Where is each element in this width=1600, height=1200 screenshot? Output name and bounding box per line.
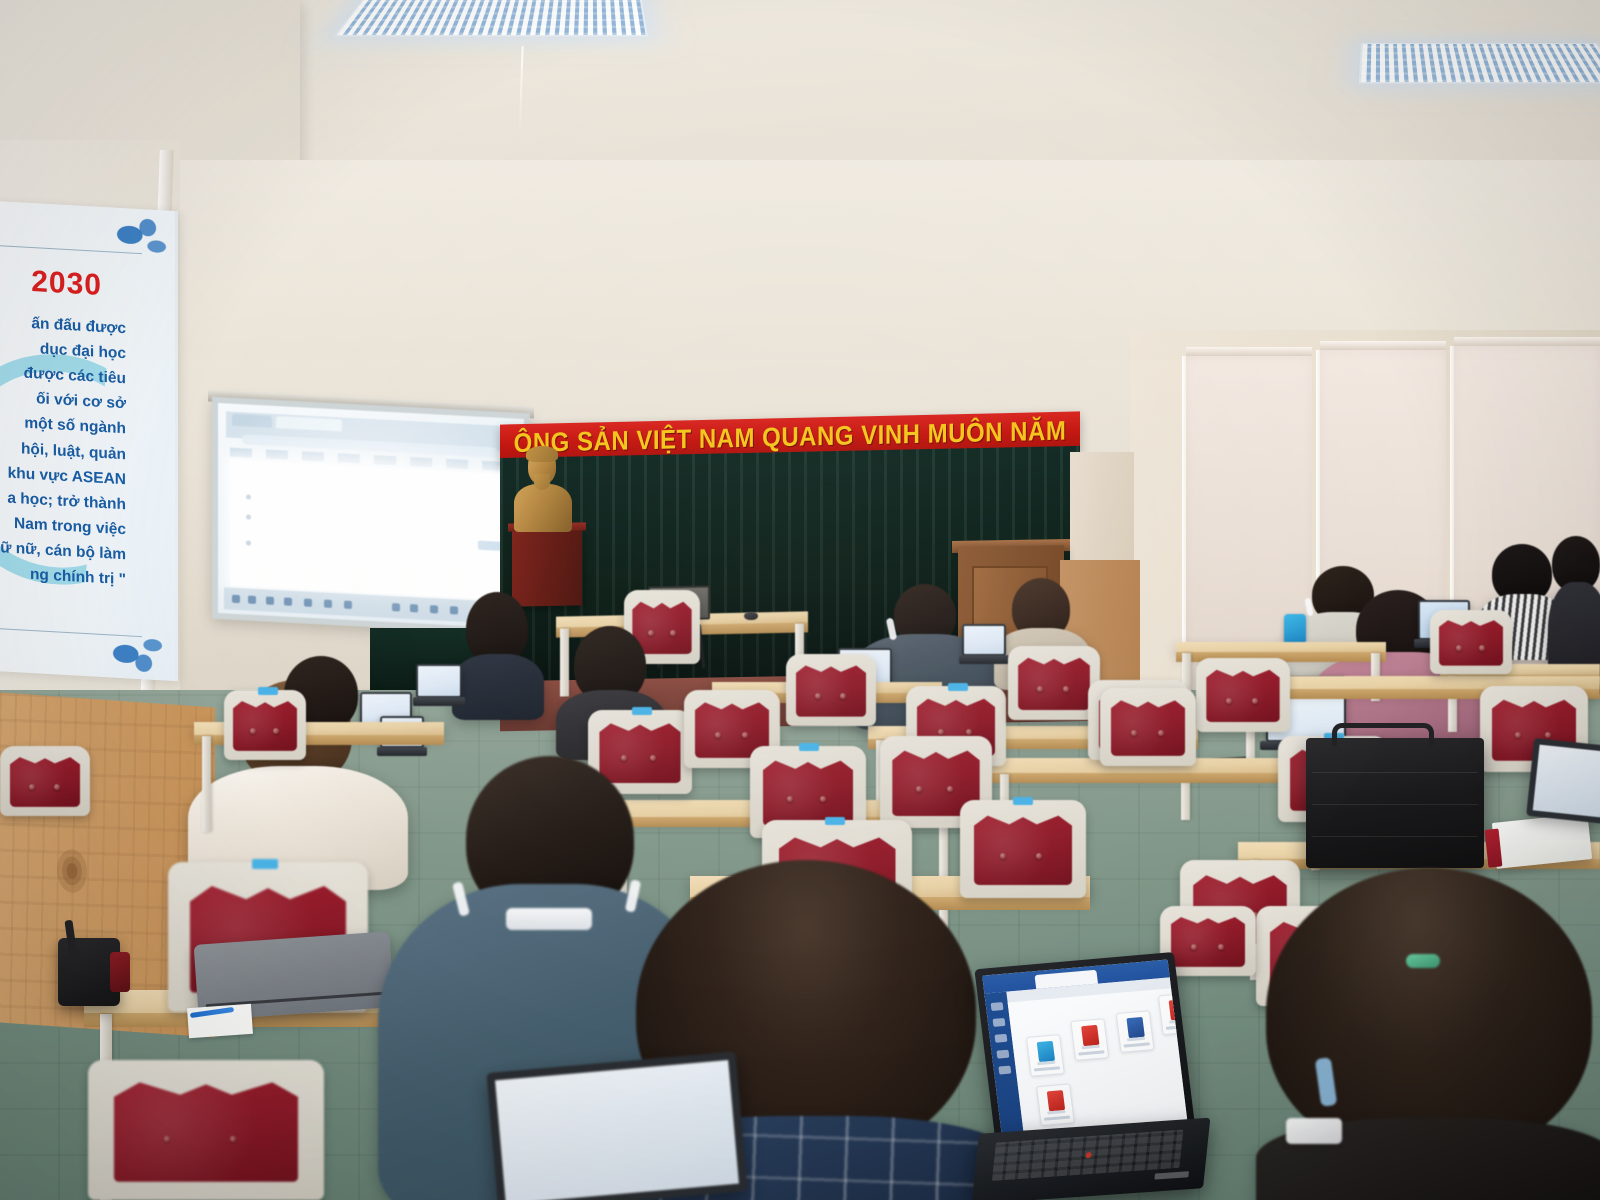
ho-chi-minh-bust bbox=[514, 448, 572, 532]
chair[interactable] bbox=[0, 746, 90, 816]
wall-poster-banner: 2030 ấn đấu được dục đại học được các ti… bbox=[0, 201, 178, 681]
smartphone[interactable] bbox=[1284, 614, 1306, 644]
app-content-area bbox=[1008, 988, 1188, 1134]
laptop[interactable] bbox=[962, 624, 1006, 656]
chair[interactable] bbox=[224, 690, 306, 760]
chair[interactable] bbox=[1008, 646, 1100, 720]
head bbox=[1266, 868, 1592, 1158]
poster-ornament-icon bbox=[109, 625, 165, 674]
hair-tie bbox=[1406, 954, 1440, 968]
laptop-screen[interactable] bbox=[982, 960, 1187, 1137]
document-icon bbox=[1047, 1090, 1065, 1111]
chair[interactable] bbox=[1430, 610, 1512, 674]
torso bbox=[452, 654, 544, 720]
chair[interactable] bbox=[88, 1060, 324, 1200]
chair[interactable] bbox=[1100, 688, 1196, 766]
laptop-brand-logo bbox=[1154, 1171, 1189, 1179]
document-card[interactable] bbox=[1026, 1034, 1065, 1077]
document-card[interactable] bbox=[1070, 1018, 1109, 1061]
ceiling-light-fixture bbox=[334, 0, 648, 36]
laptop[interactable] bbox=[486, 1051, 747, 1200]
ceiling-light-fixture bbox=[1359, 43, 1600, 83]
chair[interactable] bbox=[786, 654, 876, 726]
shirt-collar bbox=[506, 908, 592, 930]
document-icon bbox=[1081, 1025, 1099, 1046]
document-card[interactable] bbox=[1116, 1010, 1155, 1053]
attendee-woman-dark-hair-left bbox=[452, 592, 544, 710]
poster-text-block: ấn đấu được dục đại học được các tiêu ối… bbox=[0, 308, 156, 594]
document-icon bbox=[1037, 1041, 1055, 1062]
desk-table bbox=[1176, 642, 1386, 653]
laptop[interactable] bbox=[416, 664, 462, 698]
document-card[interactable] bbox=[1036, 1083, 1075, 1126]
poster-ornament-icon bbox=[113, 216, 169, 265]
handbag[interactable] bbox=[58, 938, 120, 1006]
blind-headrail bbox=[1454, 337, 1600, 346]
smartphone[interactable] bbox=[1286, 1118, 1342, 1144]
poster-year: 2030 bbox=[0, 262, 102, 303]
laptop-lid bbox=[974, 952, 1195, 1148]
blind-headrail bbox=[1186, 347, 1312, 356]
document-icon bbox=[1126, 1017, 1144, 1038]
projected-page-body bbox=[230, 460, 516, 601]
briefcase[interactable] bbox=[1306, 738, 1484, 868]
wood-grain-knot bbox=[52, 841, 92, 902]
document-icon bbox=[1169, 999, 1187, 1020]
foreground-laptop[interactable] bbox=[985, 960, 1200, 1200]
chair[interactable] bbox=[1196, 658, 1290, 732]
conference-room-photo: 2030 ấn đấu được dục đại học được các ti… bbox=[0, 0, 1600, 1200]
projected-browser-tab bbox=[232, 414, 272, 428]
laptop[interactable] bbox=[1526, 738, 1600, 824]
blind-headrail bbox=[1320, 341, 1446, 350]
computer-mouse[interactable] bbox=[744, 612, 758, 620]
document-card[interactable] bbox=[1158, 993, 1187, 1036]
projected-page-button bbox=[478, 541, 502, 551]
attendee-woman-ponytail bbox=[1256, 868, 1600, 1200]
